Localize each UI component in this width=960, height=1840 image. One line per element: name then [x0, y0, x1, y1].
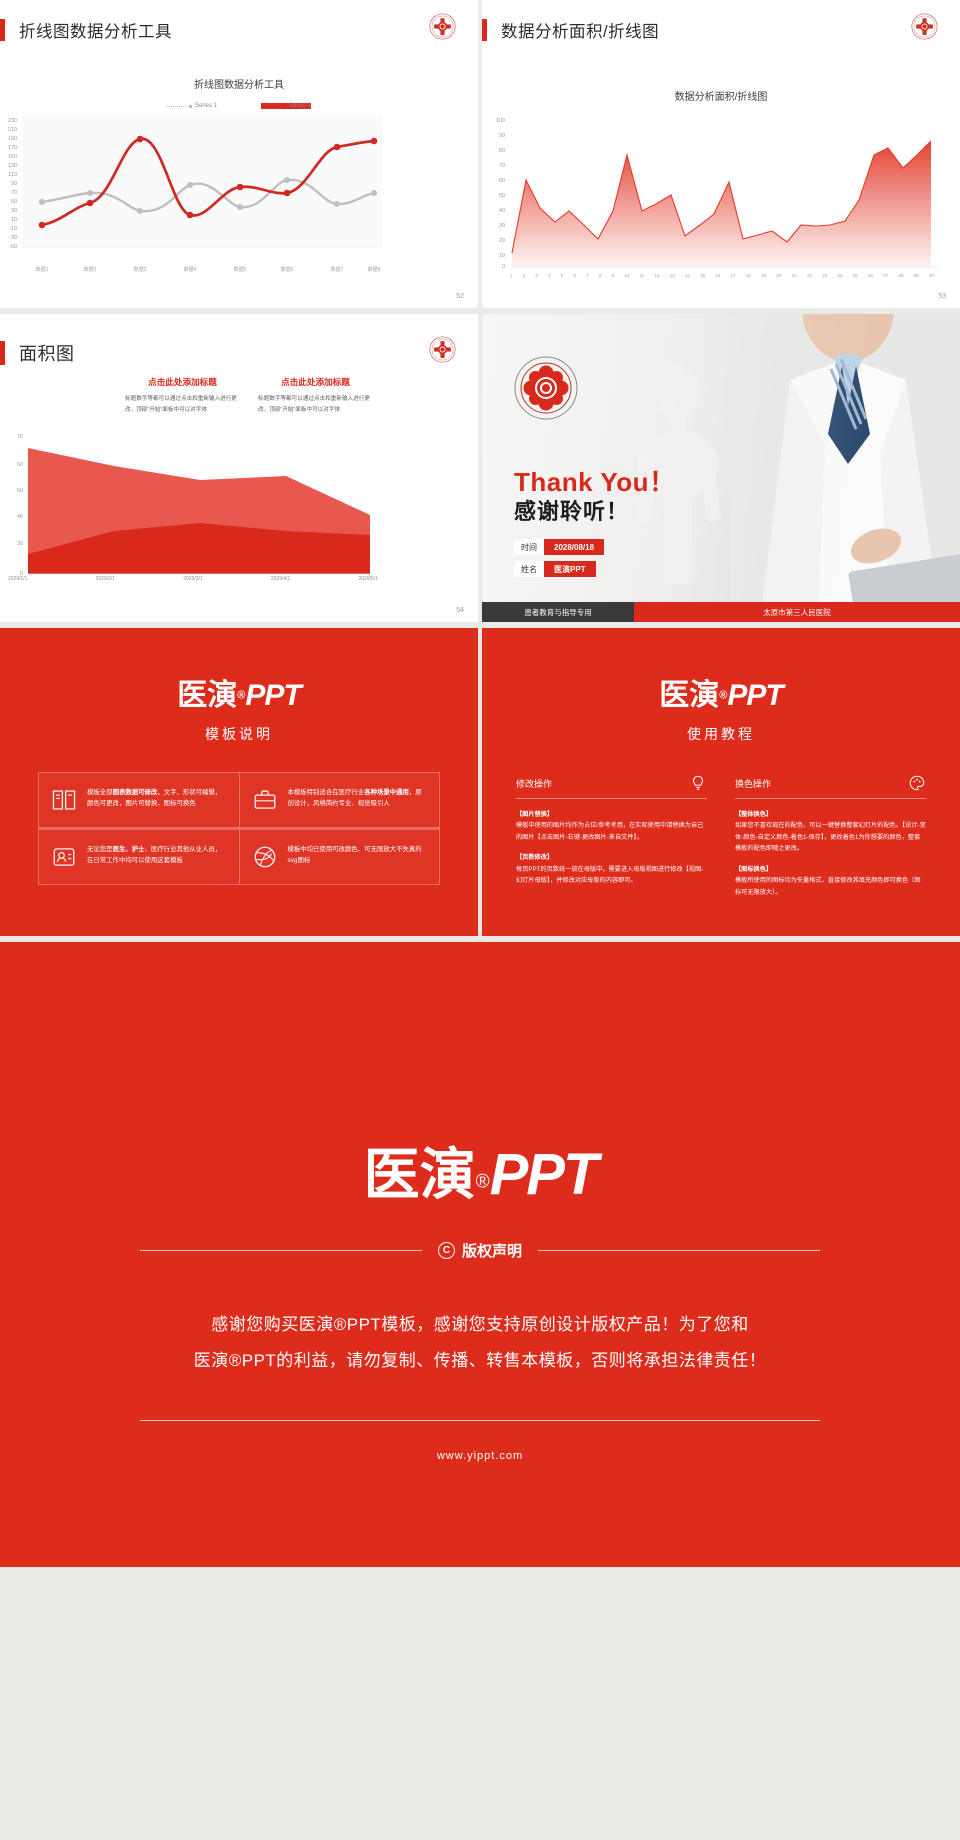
x-tick: 数据4 [184, 266, 197, 273]
column-body: 【图片替换】模板中使用的图片均作为占位/参考考用，在实际使用中请替换为自己的图片… [516, 809, 707, 887]
meta-row-time: 时间 2028/08/18 [514, 539, 604, 555]
chart-area: 折线图数据分析工具 Series 1 Series 2 230 210 190 … [0, 76, 478, 273]
footer-right-label: 太原市第三人民医院 [634, 602, 960, 622]
dash-line-icon [167, 106, 186, 107]
x-tick: 11 [639, 273, 644, 278]
meta-row-name: 姓名 医演PPT [514, 561, 596, 577]
hospital-logo-icon [429, 336, 456, 368]
x-tick: 数据3 [134, 266, 147, 273]
x-tick: 30 [929, 273, 934, 278]
brand-ppt: PPT [490, 1142, 597, 1207]
line-plot: 230 210 190 170 150 130 110 90 70 50 30 … [0, 115, 478, 273]
slide-template-info: 医演®PPT 模板说明 模板全部图表数据可修改，文字、形状可编辑，颜色可更改，图… [0, 628, 478, 936]
legend-label: Series 2 [289, 103, 311, 109]
tutorial-column-recolor: 换色操作 【整体换色】如果您不喜欢现在的配色，可以一键替换整套幻灯片的配色。【设… [735, 774, 926, 907]
slide-thank-you: Thank You！ 感谢聆听！ 时间 2028/08/18 姓名 医演PPT … [482, 314, 960, 622]
x-tick: 15 [700, 273, 705, 278]
info-card: 本模板特别适合在医疗行业各种场景中通用，原创设计，风格简约专业、视觉吸引人 [239, 773, 440, 827]
x-tick: 20 [776, 273, 781, 278]
bottom-divider-row [140, 1420, 820, 1421]
chart-area: 数据分析面积/折线图 100 90 80 70 60 50 40 30 20 1… [482, 88, 960, 282]
y-tick: 0 [488, 264, 505, 270]
line-chart-svg [22, 115, 382, 255]
copyright-divider-row: C 版权声明 [140, 1240, 820, 1261]
x-tick: 2029/1/1 [8, 576, 27, 582]
y-tick: 210 [0, 127, 17, 133]
x-tick: 数据7 [331, 266, 344, 273]
brand-ppt: PPT [245, 679, 300, 712]
x-tick: 13 [670, 273, 675, 278]
slide-line-chart: 折线图数据分析工具 折线图数据分析工具 Series 1 [0, 0, 478, 308]
y-tick: 20 [488, 238, 505, 244]
copyright-statement: 感谢您购买医演®PPT模板，感谢您支持原创设计版权产品！为了您和 医演®PPT的… [0, 1307, 960, 1378]
callout-heading: 点击此处添加标题 [125, 376, 240, 388]
tutorial-block: 【整体换色】如果您不喜欢现在的配色，可以一键替换整套幻灯片的配色。【设计-变体-… [735, 809, 926, 855]
y-tick: 70 [6, 434, 23, 440]
meta-key: 时间 [514, 539, 544, 555]
tutorial-block: 【页数修改】每页PPT的页数统一放在母版中，需要进入母版视图进行修改【视图-幻灯… [516, 852, 707, 886]
slide-area-line-chart: 数据分析面积/折线图 数据分析面积/折线图 100 90 80 [482, 0, 960, 308]
card-row-1: 模板全部图表数据可修改，文字、形状可编辑，颜色可更改，图片可替换，图标可换色 本… [38, 772, 440, 828]
x-tick: 数据2 [84, 266, 97, 273]
y-tick: 110 [0, 172, 17, 178]
block-title: 【整体换色】 [735, 811, 772, 818]
area-plot: 100 90 80 70 60 50 40 30 20 10 0 [482, 117, 960, 282]
briefcase-icon [252, 787, 278, 813]
chart-title: 数据分析面积/折线图 [482, 88, 960, 103]
block-title: 【图片替换】 [516, 811, 553, 818]
title-accent-bar [0, 341, 5, 365]
column-heading: 换色操作 [735, 777, 771, 790]
x-tick: 5 [561, 273, 564, 278]
y-tick: 100 [488, 118, 505, 124]
y-tick: 150 [0, 154, 17, 160]
slide-page-number: 52 [456, 293, 464, 300]
x-tick: 25 [853, 273, 858, 278]
x-tick: 28 [898, 273, 903, 278]
title-accent-bar [482, 19, 487, 41]
square-marker-icon [189, 105, 192, 108]
x-tick: 2029/3/1 [183, 576, 202, 582]
tutorial-columns: 修改操作 【图片替换】模板中使用的图片均作为占位/参考考用，在实际使用中请替换为… [516, 774, 926, 907]
x-tick: 12 [654, 273, 659, 278]
column-header: 修改操作 [516, 774, 707, 799]
card-text-a: 模板中均已使用可改颜色、可无限放大不失真的svg图标 [288, 846, 422, 864]
info-card-text: 本模板特别适合在医疗行业各种场景中通用，原创设计，风格简约专业、视觉吸引人 [288, 787, 428, 809]
y-tick: 50 [6, 488, 23, 494]
copyright-line-2: 医演®PPT的利益，请勿复制、传播、转售本模板，否则将承担法律责任！ [0, 1343, 960, 1379]
y-tick: 30 [6, 541, 23, 547]
brand-ppt: PPT [727, 679, 782, 712]
thank-you-chinese: 感谢聆听！ [514, 494, 629, 526]
y-tick: 230 [0, 118, 17, 124]
x-tick: 24 [837, 273, 842, 278]
column-header: 换色操作 [735, 774, 926, 799]
x-tick: 9 [612, 273, 615, 278]
x-tick: 17 [731, 273, 736, 278]
y-tick: 70 [0, 190, 17, 196]
page-title: 面积图 [19, 340, 75, 366]
brand-logo: 医演®PPT [0, 670, 478, 714]
x-tick: 1 [510, 273, 513, 278]
card-row-2: 无论您是医生、护士、医疗行业其他从业人员，在日常工作中均可以使用这套模板 模板中… [38, 828, 440, 885]
hospital-logo-icon [911, 13, 938, 45]
info-card: 模板中均已使用可改颜色、可无限放大不失真的svg图标 [239, 829, 440, 884]
dribbble-icon [252, 844, 278, 870]
column-body: 【整体换色】如果您不喜欢现在的配色，可以一键替换整套幻灯片的配色。【设计-变体-… [735, 809, 926, 898]
tutorial-column-edit: 修改操作 【图片替换】模板中使用的图片均作为占位/参考考用，在实际使用中请替换为… [516, 774, 707, 907]
y-tick: 40 [488, 208, 505, 214]
block-body: 如果您不喜欢现在的配色，可以一键替换整套幻灯片的配色。【设计-变体-颜色-自定义… [735, 822, 926, 852]
callout-body: 标题数字等都可以通过点击和重新输入进行更改，顶部“开始”面板中可以对字体 [125, 394, 240, 416]
block-body: 模板所使用的图标均为矢量格式，直接修改其填充颜色即可换色（图标可无限放大）。 [735, 877, 921, 895]
callout-group: 点击此处添加标题 标题数字等都可以通过点击和重新输入进行更改，顶部“开始”面板中… [125, 376, 373, 416]
page-title: 折线图数据分析工具 [19, 18, 172, 42]
y-tick: 170 [0, 145, 17, 151]
brand-reg: ® [476, 1172, 490, 1193]
card-text-b: 各种场景中通用 [364, 789, 409, 796]
y-tick: 80 [488, 148, 505, 154]
x-tick: 10 [624, 273, 629, 278]
x-tick: 数据6 [281, 266, 294, 273]
hospital-logo-icon [429, 13, 456, 45]
y-tick: 30 [488, 223, 505, 229]
slide-footer: 患者教育与指导专用 太原市第三人民医院 [482, 602, 960, 622]
x-tick: 2029/2/1 [96, 576, 115, 582]
book-icon [51, 787, 77, 813]
website-url: www.yippt.com [0, 1450, 960, 1462]
y-tick: 60 [488, 178, 505, 184]
hospital-logo-icon [514, 356, 578, 425]
divider-line [140, 1420, 820, 1421]
chart-legend: Series 1 Series 2 [0, 103, 478, 109]
brand-cn: 医演 [364, 1143, 476, 1206]
area-chart-svg [510, 121, 940, 271]
legend-item-series1: Series 1 [167, 103, 217, 109]
y-tick: 90 [488, 133, 505, 139]
card-text-a: 本模板特别适合在医疗行业 [288, 789, 365, 796]
dash-line-icon [261, 106, 280, 107]
x-tick: 8 [599, 273, 602, 278]
x-tick: 数据1 [36, 266, 49, 273]
card-text-b: 图表数据可修改 [113, 789, 158, 796]
slide-area-chart: 面积图 点击此处添加标题 标题数字等都可以通过点击和重新输入进行更改，顶部“开始… [0, 314, 478, 622]
copyright-badge: C 版权声明 [438, 1240, 522, 1261]
y-tick: 50 [0, 199, 17, 205]
y-tick: 40 [6, 514, 23, 520]
card-text-a: 模板全部 [87, 789, 113, 796]
callout-2: 点击此处添加标题 标题数字等都可以通过点击和重新输入进行更改，顶部“开始”面板中… [258, 376, 373, 416]
legend-item-series2: Series 2 [261, 103, 311, 109]
block-title: 【图标换色】 [735, 866, 772, 873]
card-text-a: 无论您是 [87, 846, 113, 853]
x-tick: 18 [746, 273, 751, 278]
x-tick: 4 [548, 273, 551, 278]
user-id-icon [51, 844, 77, 870]
tutorial-block: 【图片替换】模板中使用的图片均作为占位/参考考用，在实际使用中请替换为自己的图片… [516, 809, 707, 843]
x-tick: 27 [883, 273, 888, 278]
x-tick: 16 [715, 273, 720, 278]
slide-header: 折线图数据分析工具 [0, 18, 172, 42]
column-heading: 修改操作 [516, 777, 552, 790]
callout-heading: 点击此处添加标题 [258, 376, 373, 388]
x-tick: 29 [914, 273, 919, 278]
title-accent-bar [0, 19, 5, 41]
slide-preview-page: 折线图数据分析工具 折线图数据分析工具 Series 1 [0, 0, 960, 1567]
brand-cn: 医演 [177, 679, 237, 712]
meta-value: 2028/08/18 [544, 539, 604, 555]
y-tick: 130 [0, 163, 17, 169]
y-tick: 60 [6, 462, 23, 468]
callout-body: 标题数字等都可以通过点击和重新输入进行更改，顶部“开始”面板中可以对字体 [258, 394, 373, 416]
copyright-label: 版权声明 [462, 1240, 522, 1261]
x-tick: 2 [523, 273, 526, 278]
x-tick: 22 [807, 273, 812, 278]
x-tick: 2029/4/1 [271, 576, 290, 582]
meta-value: 医演PPT [544, 561, 596, 577]
info-card: 无论您是医生、护士、医疗行业其他从业人员，在日常工作中均可以使用这套模板 [39, 829, 239, 884]
copyright-line-1: 感谢您购买医演®PPT模板，感谢您支持原创设计版权产品！为了您和 [0, 1307, 960, 1343]
palette-icon [908, 774, 926, 792]
stacked-area-svg [26, 432, 372, 574]
slide-page-number: 53 [938, 293, 946, 300]
y-tick: -50 [0, 244, 17, 250]
x-tick: 2029/5/1 [359, 576, 378, 582]
slide-tutorial: 医演®PPT 使用教程 修改操作 【图片替换】模板中使用的图片均作为占位/参考考… [482, 628, 960, 936]
x-tick: 14 [685, 273, 690, 278]
y-tick: -10 [0, 226, 17, 232]
divider-line [140, 1250, 422, 1251]
x-tick: 26 [868, 273, 873, 278]
divider-line [538, 1250, 820, 1251]
x-tick: 3 [535, 273, 538, 278]
y-tick: 30 [0, 208, 17, 214]
x-tick: 6 [573, 273, 576, 278]
footer-left-label: 患者教育与指导专用 [482, 602, 634, 622]
info-card-text: 模板全部图表数据可修改，文字、形状可编辑，颜色可更改，图片可替换，图标可换色 [87, 787, 227, 809]
info-card: 模板全部图表数据可修改，文字、形状可编辑，颜色可更改，图片可替换，图标可换色 [39, 773, 239, 827]
x-tick: 21 [792, 273, 797, 278]
copyright-circle-icon: C [438, 1242, 455, 1259]
y-tick: 70 [488, 163, 505, 169]
slide-header: 面积图 [0, 340, 75, 366]
x-tick: 数据5 [234, 266, 247, 273]
card-text-b: 医生、护士 [113, 846, 145, 853]
y-tick: 10 [0, 217, 17, 223]
x-axis-labels: 1 2 3 4 5 6 7 8 9 10 11 12 13 14 15 16 1 [510, 273, 934, 278]
block-body: 每页PPT的页数统一放在母版中，需要进入母版视图进行修改【视图-幻灯片母版】，并… [516, 866, 703, 884]
chart-title: 折线图数据分析工具 [0, 76, 478, 91]
brand-logo: 医演®PPT [482, 670, 960, 714]
slide-header: 数据分析面积/折线图 [482, 18, 659, 42]
legend-label: Series 1 [195, 103, 217, 109]
y-tick: 190 [0, 136, 17, 142]
x-axis-labels: 2029/1/1 2029/2/1 2029/3/1 2029/4/1 2029… [8, 576, 378, 582]
info-card-text: 无论您是医生、护士、医疗行业其他从业人员，在日常工作中均可以使用这套模板 [87, 844, 227, 866]
tutorial-block: 【图标换色】模板所使用的图标均为矢量格式，直接修改其填充颜色即可换色（图标可无限… [735, 864, 926, 898]
x-tick: 19 [761, 273, 766, 278]
x-tick: 数据8 [368, 266, 381, 273]
y-tick: 90 [0, 181, 17, 187]
y-tick: 10 [488, 253, 505, 259]
slide-page-number: 54 [456, 607, 464, 614]
meta-key: 姓名 [514, 561, 544, 577]
block-body: 模板中使用的图片均作为占位/参考考用，在实际使用中请替换为自己的图片【点击图片-… [516, 822, 703, 840]
x-tick: 7 [586, 273, 589, 278]
y-tick: -30 [0, 235, 17, 241]
brand-logo-large: 医演®PPT [0, 1130, 960, 1211]
stacked-area-plot: 70 60 50 40 30 0 2029/1/1 2029/2/1 2029/… [0, 432, 478, 582]
block-title: 【页数修改】 [516, 854, 553, 861]
page-title: 数据分析面积/折线图 [501, 18, 659, 42]
slide-subtitle: 使用教程 [482, 724, 960, 744]
lightbulb-icon [689, 774, 707, 792]
x-tick: 23 [822, 273, 827, 278]
square-marker-icon [283, 105, 286, 108]
y-tick: 50 [488, 193, 505, 199]
brand-cn: 医演 [659, 679, 719, 712]
slide-subtitle: 模板说明 [0, 724, 478, 744]
callout-1: 点击此处添加标题 标题数字等都可以通过点击和重新输入进行更改，顶部“开始”面板中… [125, 376, 240, 416]
info-card-text: 模板中均已使用可改颜色、可无限放大不失真的svg图标 [288, 844, 428, 866]
slide-copyright: 医演®PPT C 版权声明 感谢您购买医演®PPT模板，感谢您支持原创设计版权产… [0, 942, 960, 1567]
info-card-grid: 模板全部图表数据可修改，文字、形状可编辑，颜色可更改，图片可替换，图标可换色 本… [0, 772, 478, 885]
